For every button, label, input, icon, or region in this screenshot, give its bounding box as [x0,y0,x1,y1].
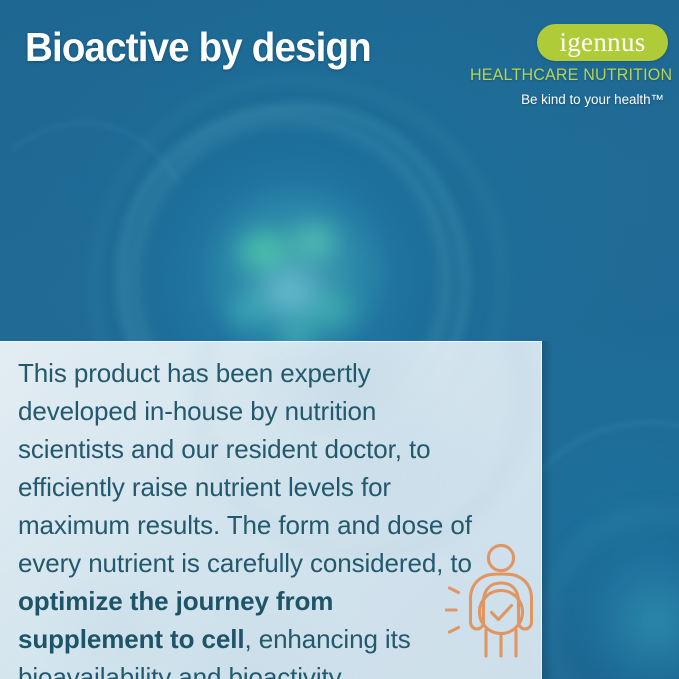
brand-name: igennus [537,28,668,55]
page-title: Bioactive by design [25,27,371,68]
logo-pill-shape: igennus [537,24,668,61]
person-wellness-check-icon [445,538,542,663]
promo-graphic: Bioactive by design igennus HEALTHCARE N… [0,0,679,679]
brand-tagline: Be kind to your health™ [468,92,668,107]
description-paragraph: This product has been expertly developed… [18,354,473,679]
brand-subtitle: HEALTHCARE NUTRITION [470,66,668,85]
description-panel: This product has been expertly developed… [0,341,542,679]
brand-logo[interactable]: igennus HEALTHCARE NUTRITION Be kind to … [468,24,668,107]
body-text: This product has been expertly developed… [18,358,472,578]
